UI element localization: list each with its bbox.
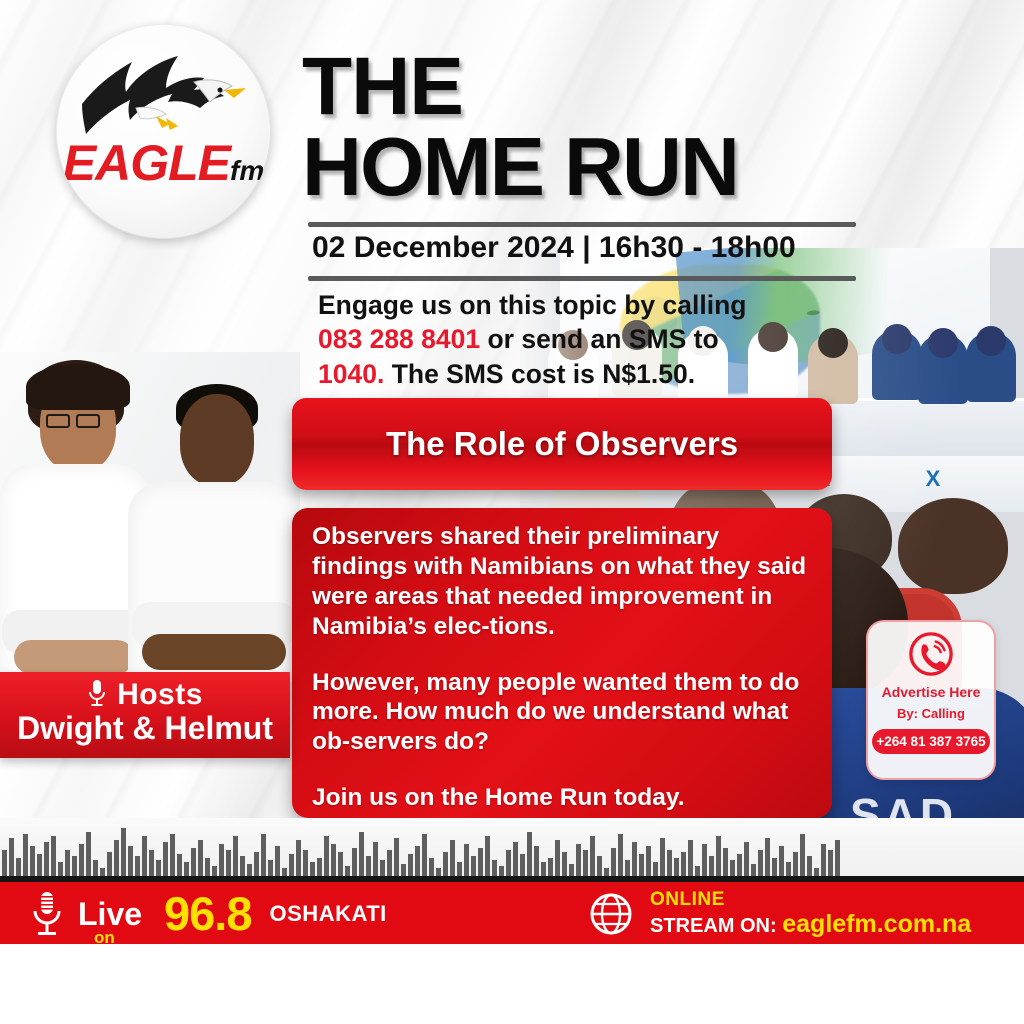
waveform-bar bbox=[415, 846, 420, 880]
microphone-icon bbox=[87, 679, 107, 707]
waveform-bar bbox=[198, 840, 203, 880]
waveform-bar bbox=[261, 834, 266, 880]
city-label: OSHAKATI bbox=[270, 901, 387, 927]
waveform-bar bbox=[513, 842, 518, 880]
waveform-bar bbox=[23, 834, 28, 880]
stream-label: STREAM ON: bbox=[650, 915, 777, 937]
waveform-bar bbox=[527, 832, 532, 880]
advertise-title: Advertise Here bbox=[868, 684, 994, 700]
waveform-bar bbox=[702, 844, 707, 880]
frequency-value: 96.8 bbox=[164, 886, 251, 941]
waveform-bar bbox=[485, 836, 490, 880]
call-phone-number[interactable]: 083 288 8401 bbox=[318, 324, 480, 354]
engage-block: Engage us on this topic by calling 083 2… bbox=[318, 288, 788, 391]
waveform-bar bbox=[373, 842, 378, 880]
hosts-banner: Hosts Dwight & Helmut bbox=[0, 672, 290, 758]
waveform-bar bbox=[170, 834, 175, 880]
waveform-bar bbox=[660, 838, 665, 880]
waveform-bar bbox=[275, 846, 280, 880]
waveform-bar bbox=[121, 828, 126, 880]
waveform-bar bbox=[464, 844, 469, 880]
live-info-bar: Live on 96.8 OSHAKATI ONLINE STREAM ON: … bbox=[0, 882, 1024, 944]
waveform-bar bbox=[44, 842, 49, 880]
engage-line-2: or send an SMS to bbox=[480, 324, 719, 354]
description-paragraph-2: However, many people wanted them to do m… bbox=[312, 668, 812, 758]
waveform-bar bbox=[86, 832, 91, 880]
stream-url[interactable]: eaglefm.com.na bbox=[782, 910, 971, 938]
waveform-bar bbox=[114, 840, 119, 880]
waveform-bar bbox=[646, 846, 651, 880]
broadcast-datetime: 02 December 2024 | 16h30 - 18h00 bbox=[312, 231, 796, 265]
waveform-bar bbox=[142, 836, 147, 880]
waveform-bar bbox=[590, 836, 595, 880]
waveform-bar bbox=[765, 838, 770, 880]
advertise-phone[interactable]: +264 81 387 3765 bbox=[872, 729, 990, 754]
topic-label: The Role of Observers bbox=[386, 425, 738, 463]
waveform-bar bbox=[359, 832, 364, 880]
online-stream-group: ONLINE STREAM ON: eaglefm.com.na bbox=[588, 890, 971, 938]
description-paragraph-1: Observers shared their preliminary findi… bbox=[312, 522, 812, 642]
logo-wordmark: EAGLEfm bbox=[56, 138, 271, 188]
eagle-icon bbox=[74, 46, 254, 138]
description-paragraph-3: Join us on the Home Run today. bbox=[312, 783, 812, 813]
microphone-icon bbox=[30, 889, 64, 939]
waveform-bar bbox=[9, 838, 14, 880]
waveform-bar bbox=[30, 846, 35, 880]
title-divider-top bbox=[308, 222, 856, 227]
waveform-bar bbox=[394, 838, 399, 880]
live-frequency-group: Live on 96.8 OSHAKATI bbox=[30, 886, 387, 941]
waveform-bar bbox=[576, 844, 581, 880]
phone-ring-icon bbox=[908, 631, 954, 677]
waveform-bar bbox=[800, 834, 805, 880]
waveform-bar bbox=[744, 842, 749, 880]
live-label: Live bbox=[78, 898, 142, 930]
sms-short-code[interactable]: 1040. bbox=[318, 359, 384, 389]
advertise-subtitle: By: Calling bbox=[868, 706, 994, 721]
waveform-bar bbox=[51, 836, 56, 880]
waveform-bar bbox=[716, 836, 721, 880]
logo-suffix: fm bbox=[230, 155, 264, 186]
waveform-bar bbox=[555, 840, 560, 880]
waveform-bar bbox=[534, 846, 539, 880]
engage-line-3: The SMS cost is N$1.50. bbox=[384, 359, 695, 389]
waveform-bar bbox=[779, 846, 784, 880]
title-line-2: HOME RUN bbox=[302, 127, 902, 207]
hosts-names: Dwight & Helmut bbox=[0, 710, 290, 747]
footer-bar: GET IT ON Google Play Download on the Ap… bbox=[0, 944, 1024, 1024]
eaglefm-logo: EAGLEfm bbox=[56, 24, 271, 239]
waveform-bar bbox=[128, 846, 133, 880]
title-divider-bottom bbox=[308, 276, 856, 281]
engage-line-1: Engage us on this topic by calling bbox=[318, 290, 746, 320]
advertise-here-card[interactable]: Advertise Here By: Calling +264 81 387 3… bbox=[866, 620, 996, 780]
waveform-bar bbox=[79, 844, 84, 880]
hosts-title: Hosts bbox=[117, 678, 203, 711]
waveform-bar bbox=[632, 842, 637, 880]
title-line-1: THE bbox=[302, 48, 902, 127]
waveform-bar bbox=[324, 836, 329, 880]
eyeglasses-icon bbox=[46, 414, 102, 428]
waveform-bar bbox=[331, 844, 336, 880]
hosts-photo bbox=[0, 352, 300, 682]
waveform-bar bbox=[219, 844, 224, 880]
online-label: ONLINE bbox=[650, 890, 971, 911]
topic-banner: The Role of Observers bbox=[292, 398, 832, 490]
waveform-bar bbox=[422, 834, 427, 880]
live-text-group: Live on bbox=[78, 898, 142, 930]
waveform-bar bbox=[450, 840, 455, 880]
online-text-group: ONLINE STREAM ON: eaglefm.com.na bbox=[650, 890, 971, 938]
stream-row: STREAM ON: eaglefm.com.na bbox=[650, 911, 971, 938]
waveform-bar bbox=[163, 842, 168, 880]
page-title: THE HOME RUN bbox=[302, 48, 902, 206]
radio-show-poster: X X X SAD bbox=[0, 0, 1024, 1024]
logo-text: EAGLE bbox=[63, 135, 230, 191]
hosts-title-row: Hosts bbox=[0, 672, 290, 712]
waveform-bar bbox=[233, 836, 238, 880]
description-panel: Observers shared their preliminary findi… bbox=[292, 508, 832, 818]
globe-icon bbox=[588, 891, 634, 937]
waveform-bar bbox=[296, 840, 301, 880]
waveform-bar bbox=[835, 840, 840, 880]
waveform-bar bbox=[688, 840, 693, 880]
waveform-bar bbox=[618, 834, 623, 880]
audio-waveform bbox=[0, 818, 1024, 880]
waveform-bar bbox=[821, 844, 826, 880]
